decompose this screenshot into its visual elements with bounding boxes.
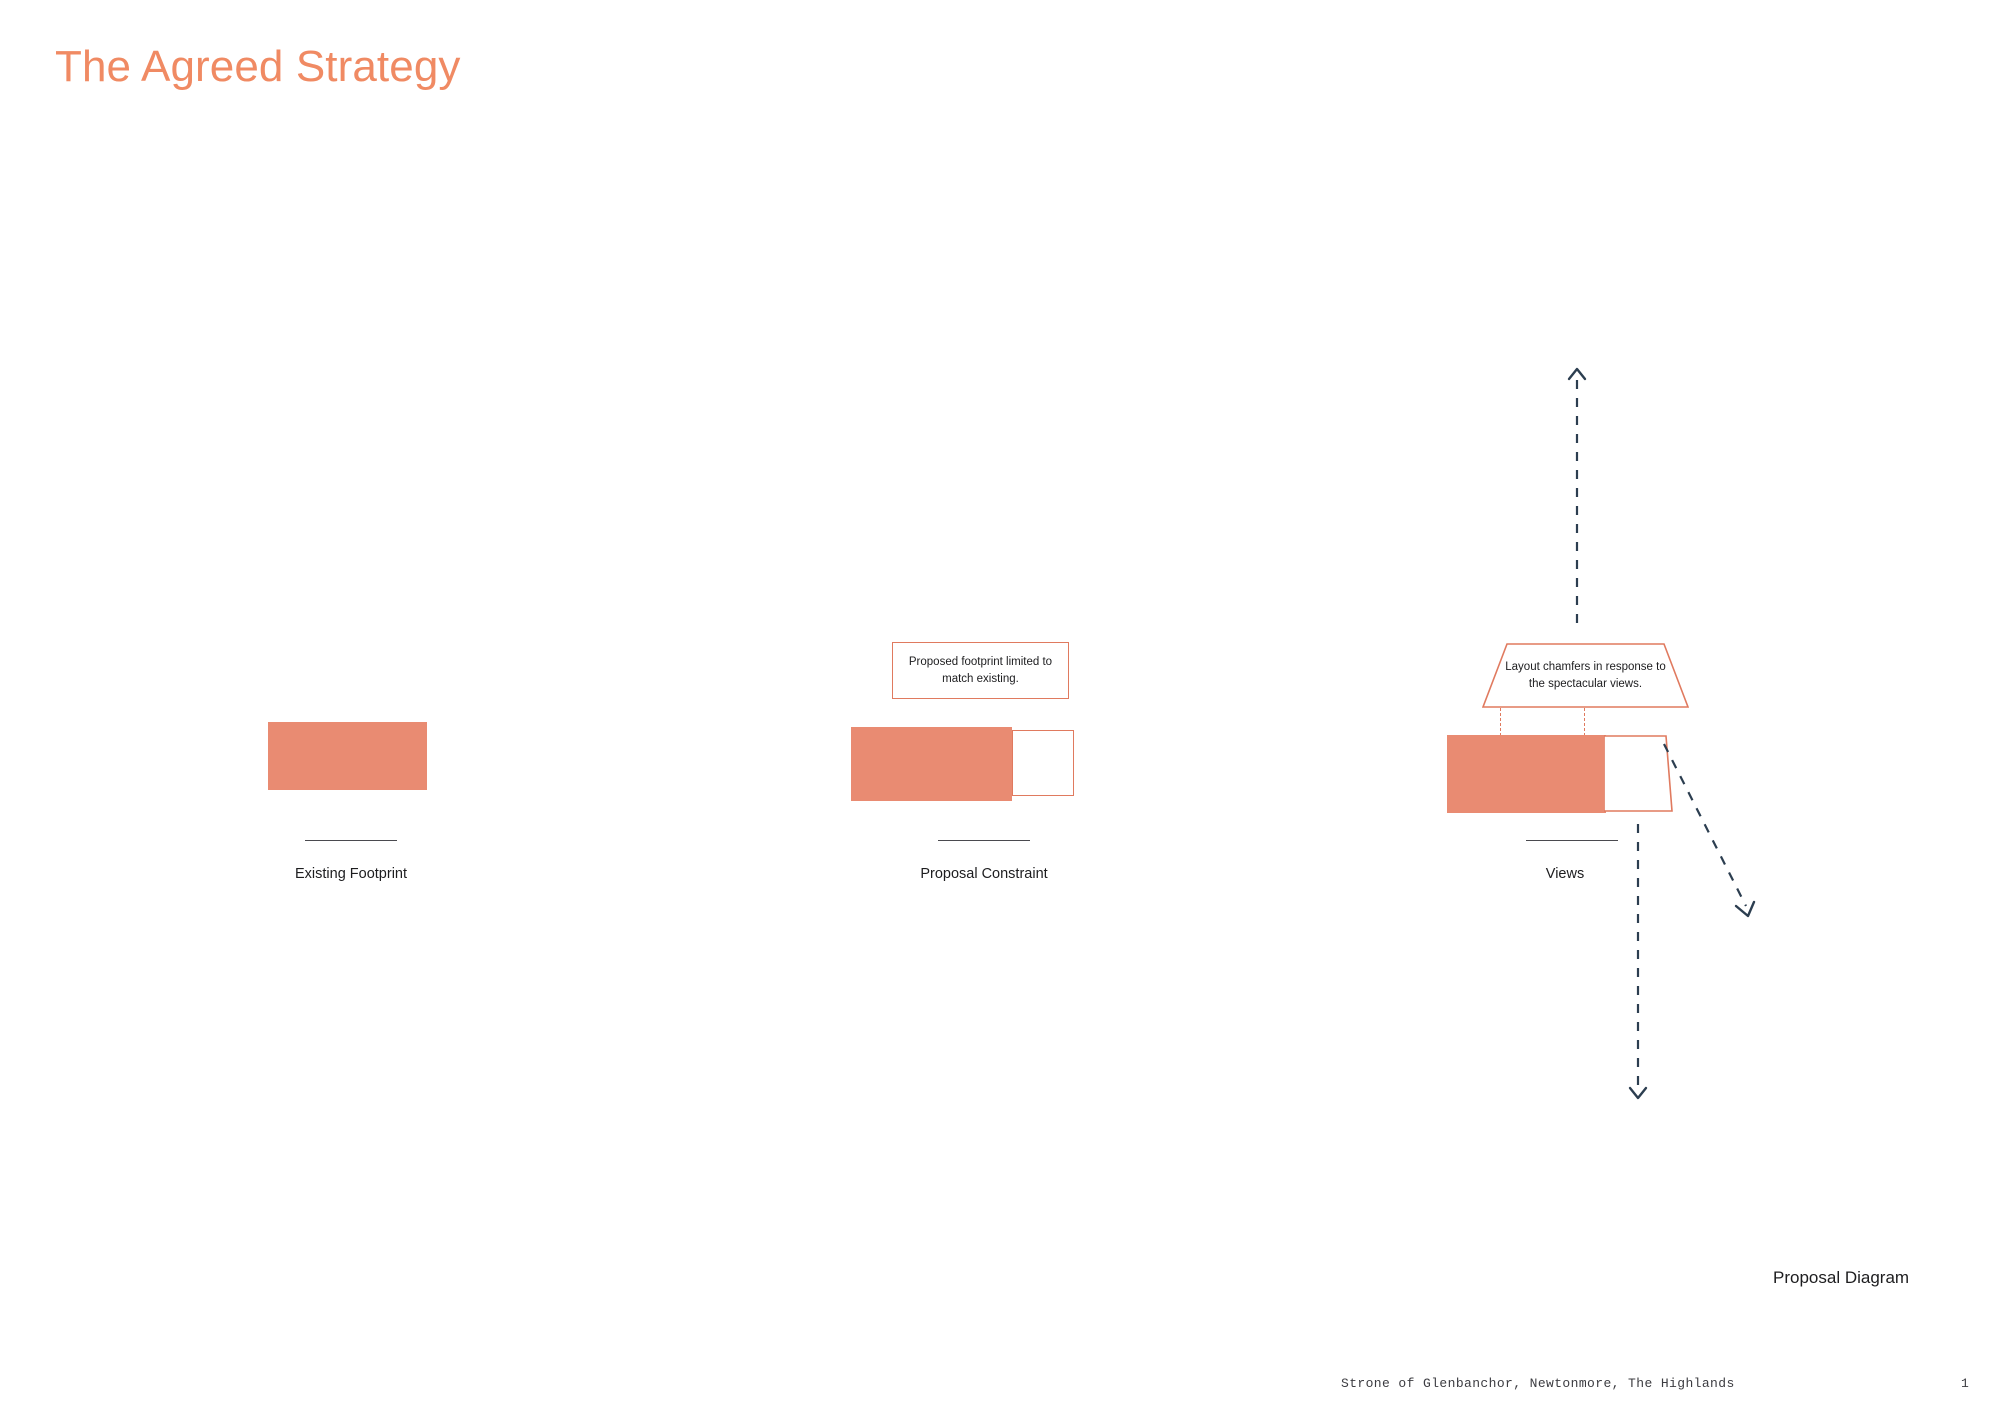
view-arrow-up	[1566, 365, 1588, 623]
slide-page: The Agreed Strategy Existing Footprint P…	[0, 0, 2000, 1414]
views-callout: Layout chamfers in response to the spect…	[1482, 643, 1689, 708]
footer-page-number: 1	[1961, 1376, 1969, 1391]
views-solid-block	[1447, 735, 1606, 813]
footer-project-caption: Strone of Glenbanchor, Newtonmore, The H…	[1341, 1376, 1735, 1391]
views-caption-rule	[1526, 840, 1618, 841]
diagram-views: Layout chamfers in response to the spect…	[0, 0, 2000, 1414]
views-leader-right	[1584, 708, 1585, 736]
views-leader-left	[1500, 708, 1501, 736]
views-callout-text: Layout chamfers in response to the spect…	[1482, 659, 1689, 692]
view-arrow-down	[1627, 824, 1649, 1102]
view-arrow-diagonal	[1660, 740, 1778, 922]
section-label-proposal-diagram: Proposal Diagram	[1773, 1268, 1909, 1288]
